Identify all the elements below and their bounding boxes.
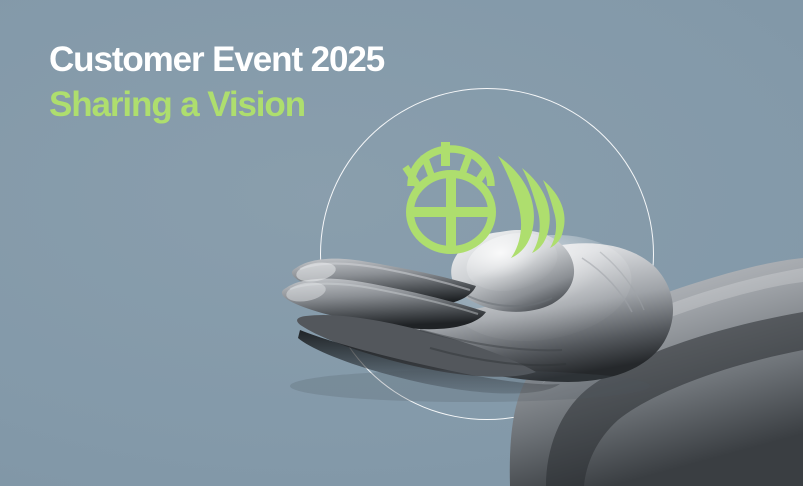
brand-logo-svg — [398, 140, 578, 260]
page-subtitle: Sharing a Vision — [49, 87, 384, 122]
headline-block: Customer Event 2025 Sharing a Vision — [49, 42, 384, 122]
crossed-circle-icon — [410, 174, 492, 250]
wave-crescents-icon — [498, 156, 565, 258]
page-title: Customer Event 2025 — [49, 42, 384, 77]
brand-logo — [398, 140, 578, 260]
presentation-slide: Customer Event 2025 Sharing a Vision — [0, 0, 803, 486]
